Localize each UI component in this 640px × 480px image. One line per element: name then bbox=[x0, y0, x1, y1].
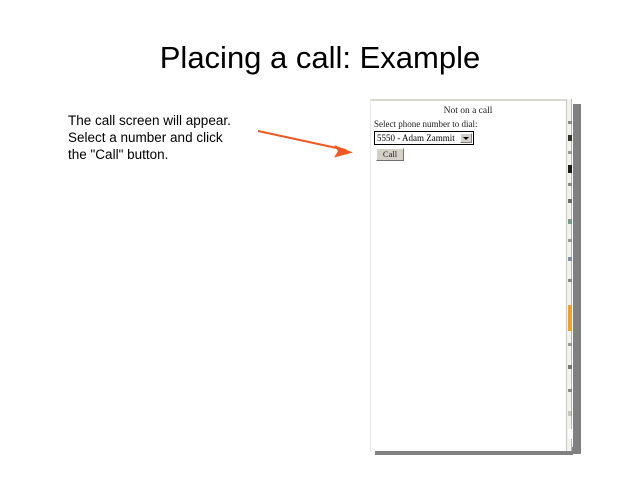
scrollbar-mark bbox=[568, 219, 572, 224]
scrollbar-mark bbox=[568, 389, 572, 392]
body-text-line: the "Call" button. bbox=[68, 146, 278, 163]
phone-select-label: Select phone number to dial: bbox=[374, 119, 477, 130]
body-text-block: The call screen will appear. Select a nu… bbox=[68, 112, 278, 163]
scrollbar-mark bbox=[568, 121, 572, 124]
call-button[interactable]: Call bbox=[376, 148, 404, 161]
scrollbar-mark bbox=[568, 199, 572, 203]
body-text-line: Select a number and click bbox=[68, 129, 278, 146]
call-screen-screenshot: Not on a call Select phone number to dia… bbox=[370, 99, 572, 451]
scrollbar-mark bbox=[568, 365, 572, 369]
chevron-down-icon[interactable] bbox=[460, 133, 472, 143]
screenshot-shadow-right bbox=[573, 104, 581, 454]
page-title: Placing a call: Example bbox=[0, 39, 640, 77]
slide-canvas: Placing a call: Example The call screen … bbox=[0, 0, 640, 480]
scrollbar-mark bbox=[568, 239, 572, 242]
scrollbar-mark bbox=[568, 257, 572, 261]
scrollbar-mark bbox=[568, 411, 572, 416]
scrollbar-mark bbox=[568, 279, 572, 282]
phone-number-select[interactable]: 5550 - Adam Zammit bbox=[374, 131, 474, 145]
screenshot-scrollbar[interactable] bbox=[566, 99, 572, 451]
scrollbar-mark bbox=[568, 135, 572, 141]
scrollbar-mark bbox=[568, 183, 572, 186]
scrollbar-mark bbox=[568, 151, 572, 154]
phone-number-select-value: 5550 - Adam Zammit bbox=[377, 133, 455, 144]
scrollbar-mark bbox=[568, 343, 572, 346]
scrollbar-mark bbox=[568, 165, 572, 173]
scrollbar-mark bbox=[568, 305, 572, 331]
screenshot-left-border bbox=[370, 102, 371, 451]
scrollbar-mark bbox=[568, 429, 572, 439]
body-text-line: The call screen will appear. bbox=[68, 112, 278, 129]
screenshot-top-border bbox=[370, 99, 572, 102]
call-status-text: Not on a call bbox=[370, 106, 566, 117]
